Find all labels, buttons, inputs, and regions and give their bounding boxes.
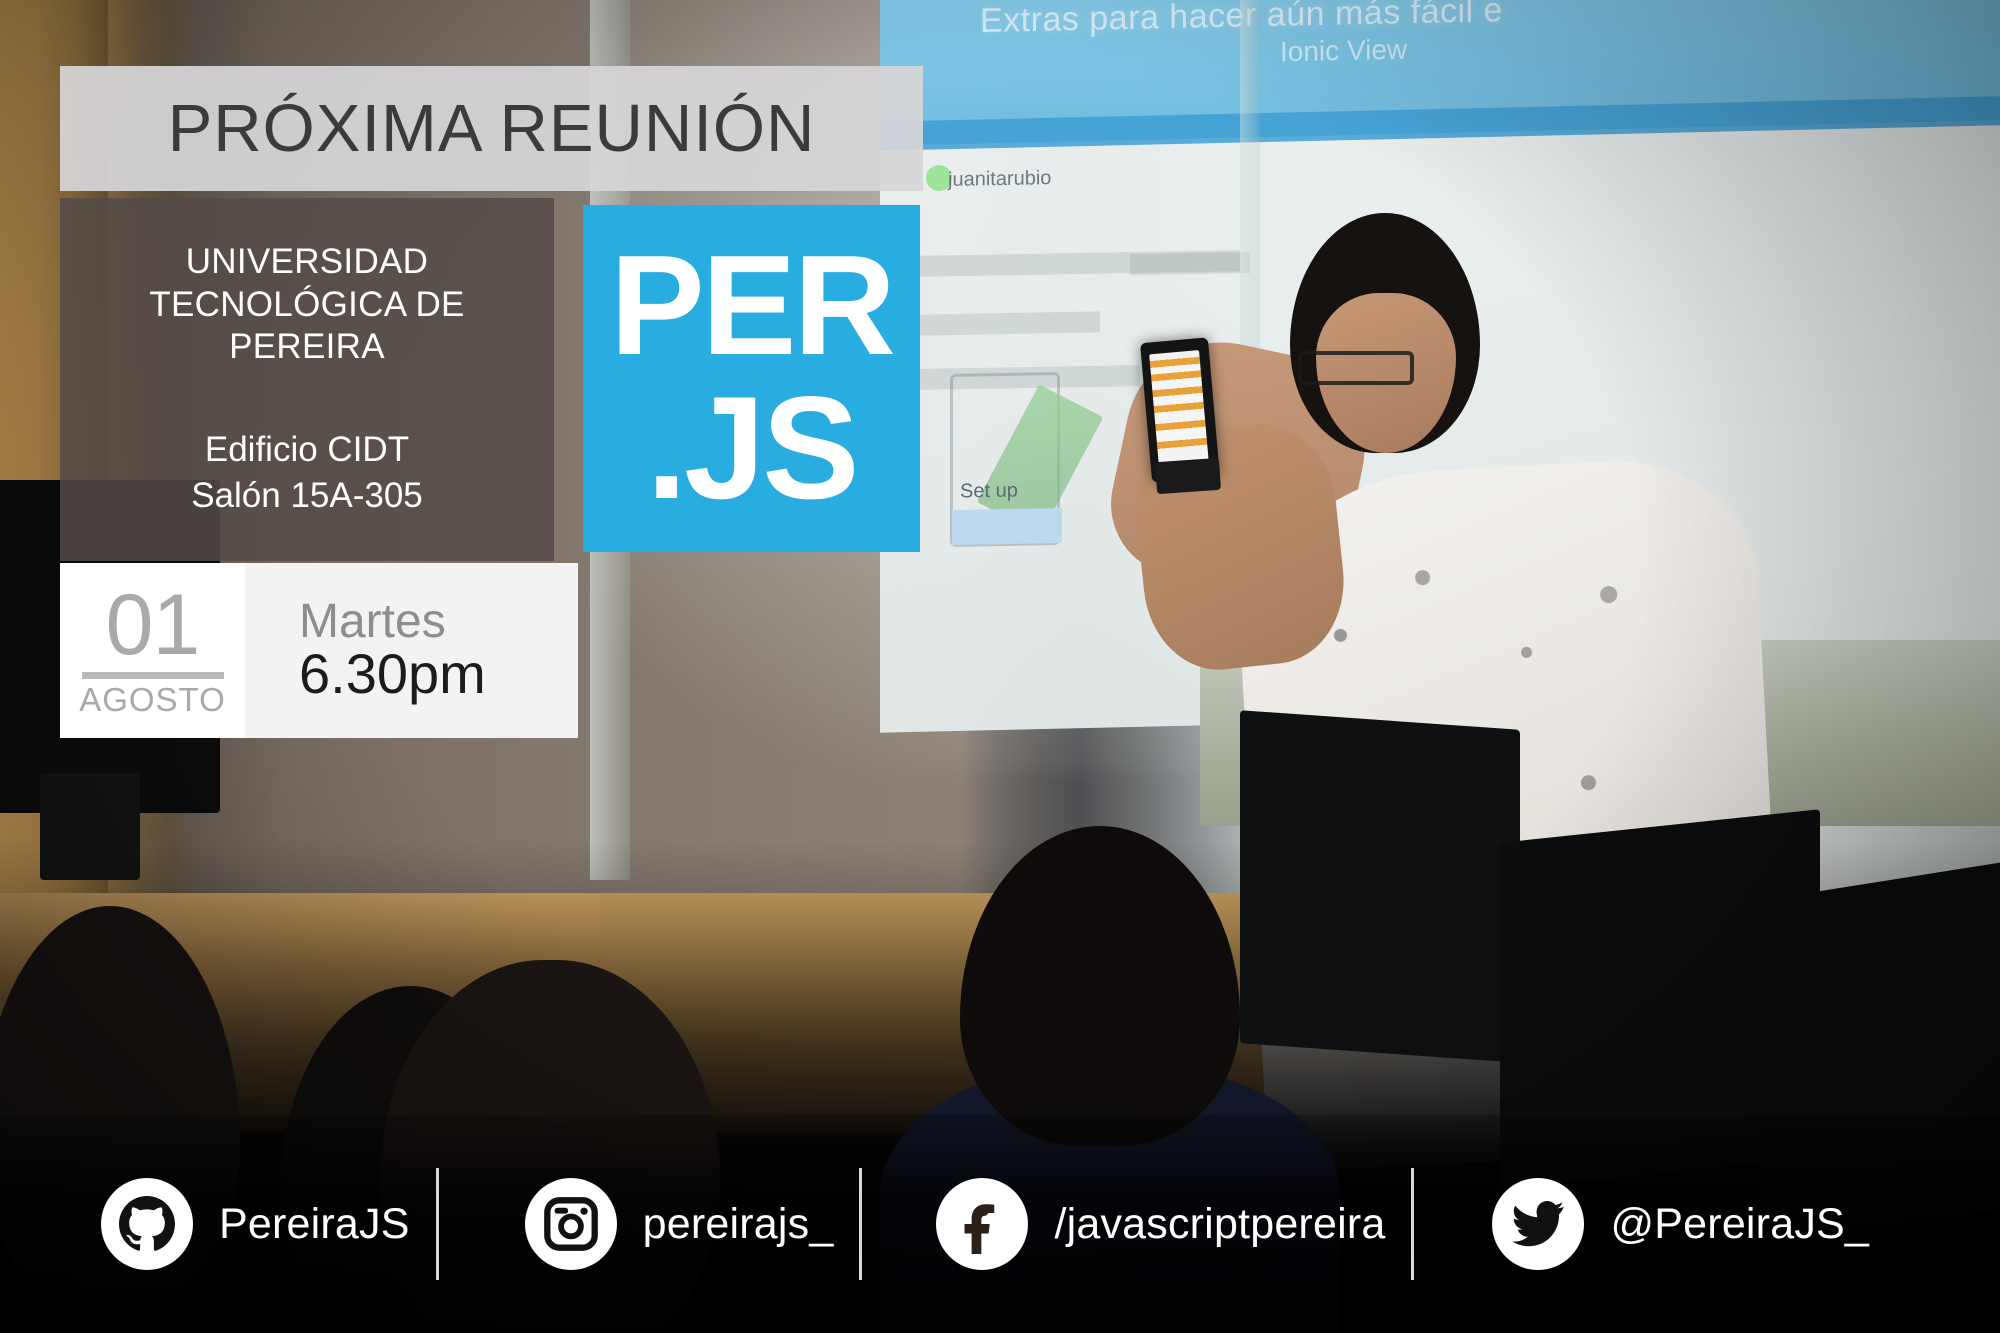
social-label-facebook: /javascriptpereira	[1054, 1200, 1385, 1249]
social-link-instagram[interactable]: pereirajs_	[499, 1178, 860, 1270]
logo-text-top: PER	[583, 235, 920, 377]
poster-canvas: Extras para hacer aún más fácil e Ionic …	[0, 0, 2000, 1333]
date-time-block: Martes 6.30pm	[245, 563, 578, 738]
social-bar: PereiraJS pereirajs_ /javascriptper	[0, 1115, 2000, 1333]
social-label-instagram: pereirajs_	[643, 1200, 834, 1249]
organization-line-1: UNIVERSIDAD	[72, 241, 542, 284]
date-weekday: Martes	[299, 597, 578, 647]
instagram-icon	[525, 1178, 617, 1270]
venue-room: Salón 15A-305	[191, 473, 423, 519]
social-separator	[1411, 1168, 1414, 1280]
date-divider	[82, 672, 224, 679]
date-day-number: 01	[106, 586, 200, 665]
github-icon	[101, 1178, 193, 1270]
venue-info: Edificio CIDT Salón 15A-305	[191, 427, 423, 518]
date-day-block: 01 AGOSTO	[60, 563, 245, 738]
social-link-facebook[interactable]: /javascriptpereira	[910, 1178, 1411, 1270]
organization-name: UNIVERSIDAD TECNOLÓGICA DE PEREIRA	[72, 241, 542, 369]
event-info-panel: UNIVERSIDAD TECNOLÓGICA DE PEREIRA Edifi…	[60, 198, 554, 561]
date-month-name: AGOSTO	[79, 681, 226, 719]
event-time: 6.30pm	[299, 645, 578, 704]
perjs-logo: PER .JS	[583, 205, 920, 552]
social-separator	[436, 1168, 439, 1280]
twitter-icon	[1492, 1178, 1584, 1270]
social-separator	[859, 1168, 862, 1280]
page-title: PRÓXIMA REUNIÓN	[168, 90, 816, 167]
facebook-icon	[936, 1178, 1028, 1270]
social-link-github[interactable]: PereiraJS	[75, 1178, 436, 1270]
social-label-twitter: @PereiraJS_	[1610, 1200, 1869, 1249]
date-card: 01 AGOSTO Martes 6.30pm	[60, 563, 578, 738]
headline-band: PRÓXIMA REUNIÓN	[60, 66, 923, 191]
social-link-twitter[interactable]: @PereiraJS_	[1466, 1178, 1895, 1270]
organization-line-2: TECNOLÓGICA DE PEREIRA	[72, 284, 542, 369]
logo-text-bottom: .JS	[583, 375, 920, 521]
venue-building: Edificio CIDT	[191, 427, 423, 473]
social-label-github: PereiraJS	[219, 1200, 410, 1249]
